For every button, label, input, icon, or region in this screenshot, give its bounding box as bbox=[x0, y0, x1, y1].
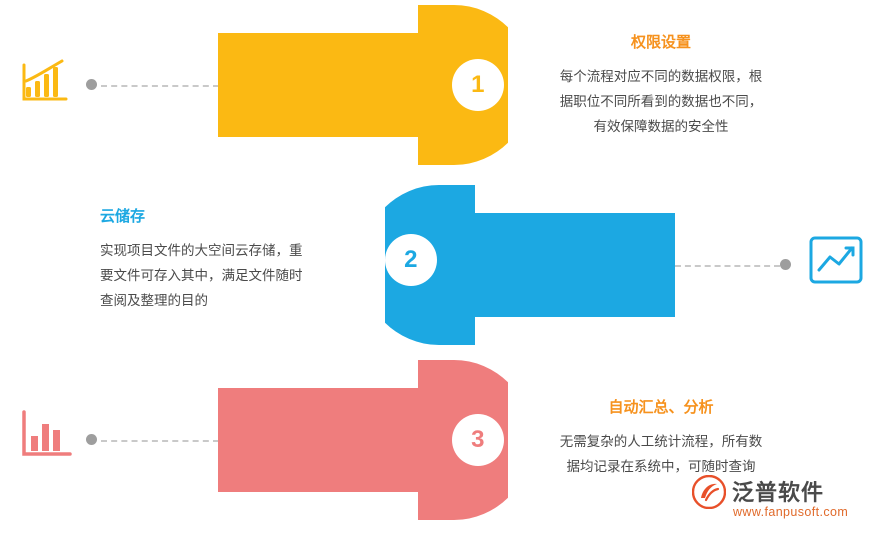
bar-chart-icon bbox=[20, 408, 72, 456]
step-body-2: 实现项目文件的大空间云存储，重 要文件可存入其中，满足文件随时 查阅及整理的目的 bbox=[100, 238, 358, 313]
connector-line-2 bbox=[675, 265, 780, 267]
step-number-badge-3: 3 bbox=[452, 414, 504, 466]
step-text-1: 权限设置 每个流程对应不同的数据权限，根 据职位不同所看到的数据也不同， 有效保… bbox=[532, 33, 790, 139]
step-text-3: 自动汇总、分析 无需复杂的人工统计流程，所有数 据均记录在系统中，可随时查询 bbox=[532, 398, 790, 479]
brand-logo: 泛普软件 www.fanpusoft.com bbox=[692, 473, 880, 525]
step-heading-1: 权限设置 bbox=[532, 33, 790, 53]
connector-dot-1 bbox=[86, 79, 97, 90]
connector-dot-2 bbox=[780, 259, 791, 270]
step-body-line: 要文件可存入其中，满足文件随时 bbox=[100, 263, 358, 288]
step-number-badge-2: 2 bbox=[385, 234, 437, 286]
line-chart-icon bbox=[808, 235, 860, 283]
step-number-badge-1: 1 bbox=[452, 59, 504, 111]
step-row-2: 云储存 实现项目文件的大空间云存储，重 要文件可存入其中，满足文件随时 查阅及整… bbox=[0, 185, 894, 350]
step-body-3: 无需复杂的人工统计流程，所有数 据均记录在系统中，可随时查询 bbox=[532, 429, 790, 479]
logo-company-name: 泛普软件 bbox=[732, 475, 824, 507]
step-text-2: 云储存 实现项目文件的大空间云存储，重 要文件可存入其中，满足文件随时 查阅及整… bbox=[100, 207, 358, 313]
step-number-2: 2 bbox=[404, 246, 418, 274]
step-body-line: 据职位不同所看到的数据也不同， bbox=[532, 89, 790, 114]
step-body-line: 每个流程对应不同的数据权限，根 bbox=[532, 64, 790, 89]
step-number-1: 1 bbox=[471, 71, 485, 99]
infographic-canvas: 1 权限设置 每个流程对应不同的数据权限，根 据职位不同所看到的数据也不同， 有… bbox=[0, 0, 894, 535]
step-heading-3: 自动汇总、分析 bbox=[532, 398, 790, 418]
signal-bars-icon bbox=[20, 57, 72, 105]
step-body-1: 每个流程对应不同的数据权限，根 据职位不同所看到的数据也不同， 有效保障数据的安… bbox=[532, 64, 790, 139]
logo-website-url: www.fanpusoft.com bbox=[733, 505, 848, 519]
step-row-1: 1 权限设置 每个流程对应不同的数据权限，根 据职位不同所看到的数据也不同， 有… bbox=[0, 5, 894, 170]
connector-line-3 bbox=[101, 440, 219, 442]
step-body-line: 有效保障数据的安全性 bbox=[532, 114, 790, 139]
step-body-line: 无需复杂的人工统计流程，所有数 bbox=[532, 429, 790, 454]
step-number-3: 3 bbox=[471, 426, 485, 454]
step-body-line: 实现项目文件的大空间云存储，重 bbox=[100, 238, 358, 263]
connector-dot-3 bbox=[86, 434, 97, 445]
step-body-line: 查阅及整理的目的 bbox=[100, 288, 358, 313]
connector-line-1 bbox=[101, 85, 219, 87]
step-heading-2: 云储存 bbox=[100, 207, 358, 227]
fanpu-logo-icon bbox=[692, 475, 726, 509]
